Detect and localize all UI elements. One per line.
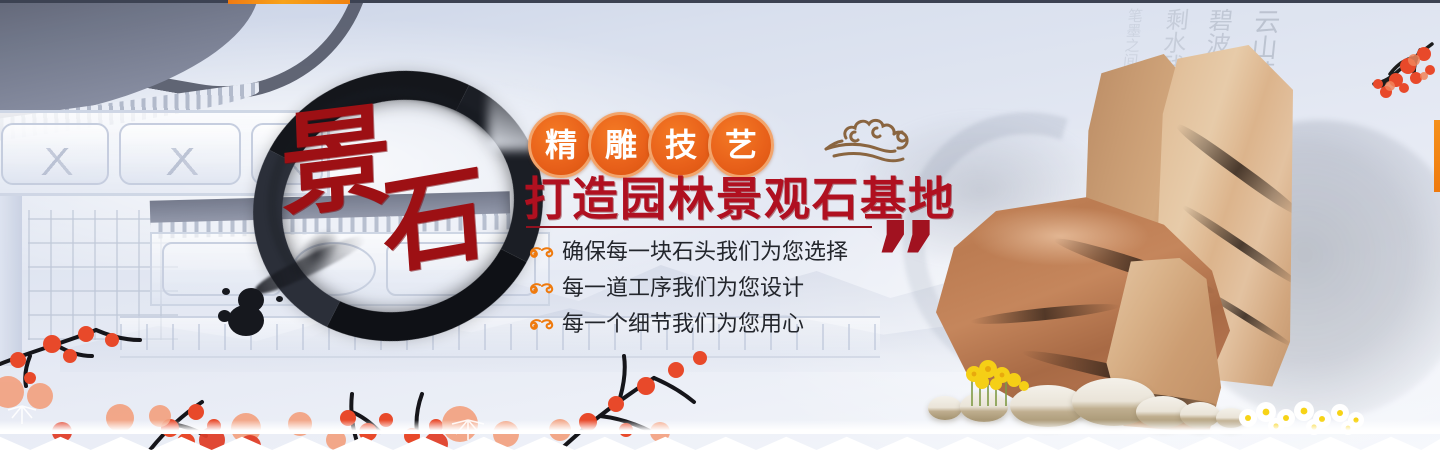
headline-underline: [526, 226, 872, 228]
quote-mark-icon: ”: [872, 224, 936, 297]
top-rule: [0, 0, 1440, 3]
plum-blossom-icon: [1320, 40, 1440, 150]
ink-splatter-dot: [222, 288, 230, 295]
stone-vein: [970, 300, 1120, 328]
slogan-badge-3: 技: [648, 112, 714, 178]
slogan-badge-2: 雕: [588, 112, 654, 178]
brand-char-shi: 石: [379, 159, 489, 281]
stone-vein: [1174, 120, 1303, 219]
promo-banner: 景 石 精 雕 技 艺 打造园林景观石基地: [0, 0, 1440, 450]
swirl-ornament-icon: [530, 244, 556, 262]
bottom-fade: [0, 420, 1440, 434]
frieze-cell: [1, 123, 109, 185]
brand-logo-characters: 景 石: [278, 106, 518, 306]
slogan-badge-4: 艺: [708, 112, 774, 178]
pebble: [928, 396, 962, 420]
brand-char-jing: 景: [278, 99, 393, 225]
list-item-label: 确保每一块石头我们为您选择: [562, 242, 848, 264]
list-item: 确保每一块石头我们为您选择: [530, 236, 848, 270]
slogan-badge-1: 精: [528, 112, 594, 178]
top-rule-orange-accent: [228, 0, 350, 4]
frieze-cell: [119, 123, 241, 185]
yellow-flowers-icon: [962, 358, 1048, 406]
landscape-stones-photo: [940, 40, 1440, 450]
auspicious-cloud-icon: [822, 108, 930, 170]
swirl-ornament-icon: [530, 280, 556, 298]
right-edge-orange-accent: [1434, 120, 1440, 192]
slogan-badge-group: 精 雕 技 艺: [528, 112, 774, 178]
list-item-label: 每一道工序我们为您设计: [562, 278, 804, 300]
